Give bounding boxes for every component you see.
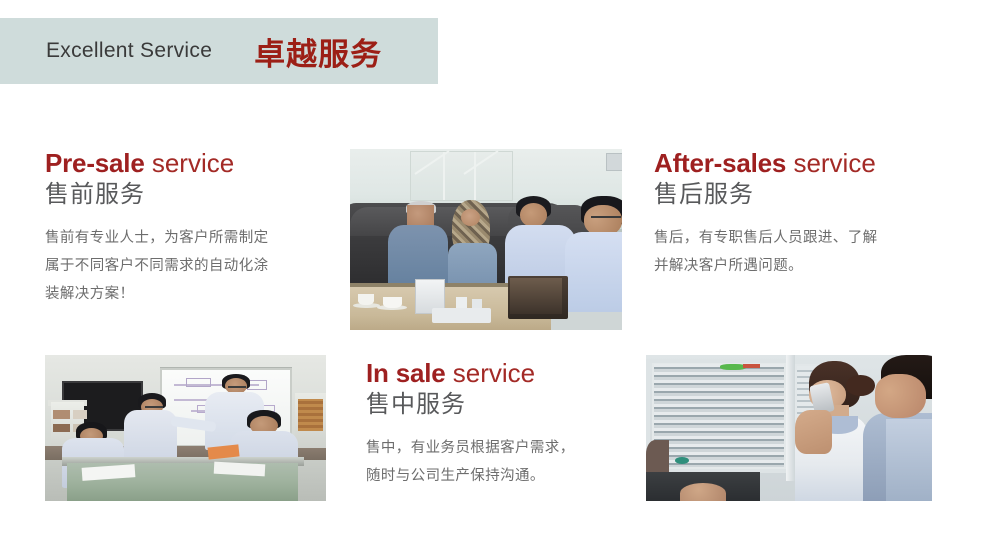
- pre-sale-headline: Pre-sale service: [45, 148, 269, 178]
- pre-sale-body-line-3: 装解决方案！: [45, 280, 269, 308]
- banner-chinese-title: 卓越服务: [254, 29, 382, 74]
- photo-client-meeting: [350, 149, 622, 330]
- after-sales-subtitle: 售后服务: [654, 180, 878, 210]
- section-pre-sale: Pre-sale service 售前服务 售前有专业人士，为客户所需制定 属于…: [45, 148, 269, 308]
- pre-sale-subtitle: 售前服务: [45, 180, 269, 210]
- in-sale-body-line-1: 售中，有业务员根据客户需求，: [366, 434, 575, 462]
- pre-sale-headline-strong: Pre-sale: [45, 148, 145, 178]
- in-sale-body-line-2: 随时与公司生产保持沟通。: [366, 462, 575, 490]
- in-sale-headline-strong: In sale: [366, 358, 446, 388]
- after-sales-body: 售后，有专职售后人员跟进、了解 并解决客户所遇问题。: [654, 224, 878, 280]
- in-sale-body: 售中，有业务员根据客户需求， 随时与公司生产保持沟通。: [366, 434, 575, 490]
- in-sale-headline: In sale service: [366, 358, 575, 388]
- photo-whiteboard-meeting: [45, 355, 326, 501]
- section-after-sales: After-sales service 售后服务 售后，有专职售后人员跟进、了解…: [654, 148, 878, 280]
- after-sales-headline-strong: After-sales: [654, 148, 786, 178]
- excellent-service-banner: Excellent Service 卓越服务: [0, 18, 438, 84]
- in-sale-subtitle: 售中服务: [366, 390, 575, 420]
- pre-sale-body-line-1: 售前有专业人士，为客户所需制定: [45, 224, 269, 252]
- banner-english-title: Excellent Service: [46, 39, 212, 63]
- in-sale-headline-light: service: [453, 358, 535, 388]
- pre-sale-headline-light: service: [152, 148, 234, 178]
- pre-sale-body-line-2: 属于不同客户不同需求的自动化涂: [45, 252, 269, 280]
- after-sales-body-line-2: 并解决客户所遇问题。: [654, 252, 878, 280]
- after-sales-headline-light: service: [793, 148, 875, 178]
- after-sales-body-line-1: 售后，有专职售后人员跟进、了解: [654, 224, 878, 252]
- section-in-sale: In sale service 售中服务 售中，有业务员根据客户需求， 随时与公…: [366, 358, 575, 490]
- after-sales-headline: After-sales service: [654, 148, 878, 178]
- pre-sale-body: 售前有专业人士，为客户所需制定 属于不同客户不同需求的自动化涂 装解决方案！: [45, 224, 269, 308]
- photo-phone-support: [646, 355, 932, 501]
